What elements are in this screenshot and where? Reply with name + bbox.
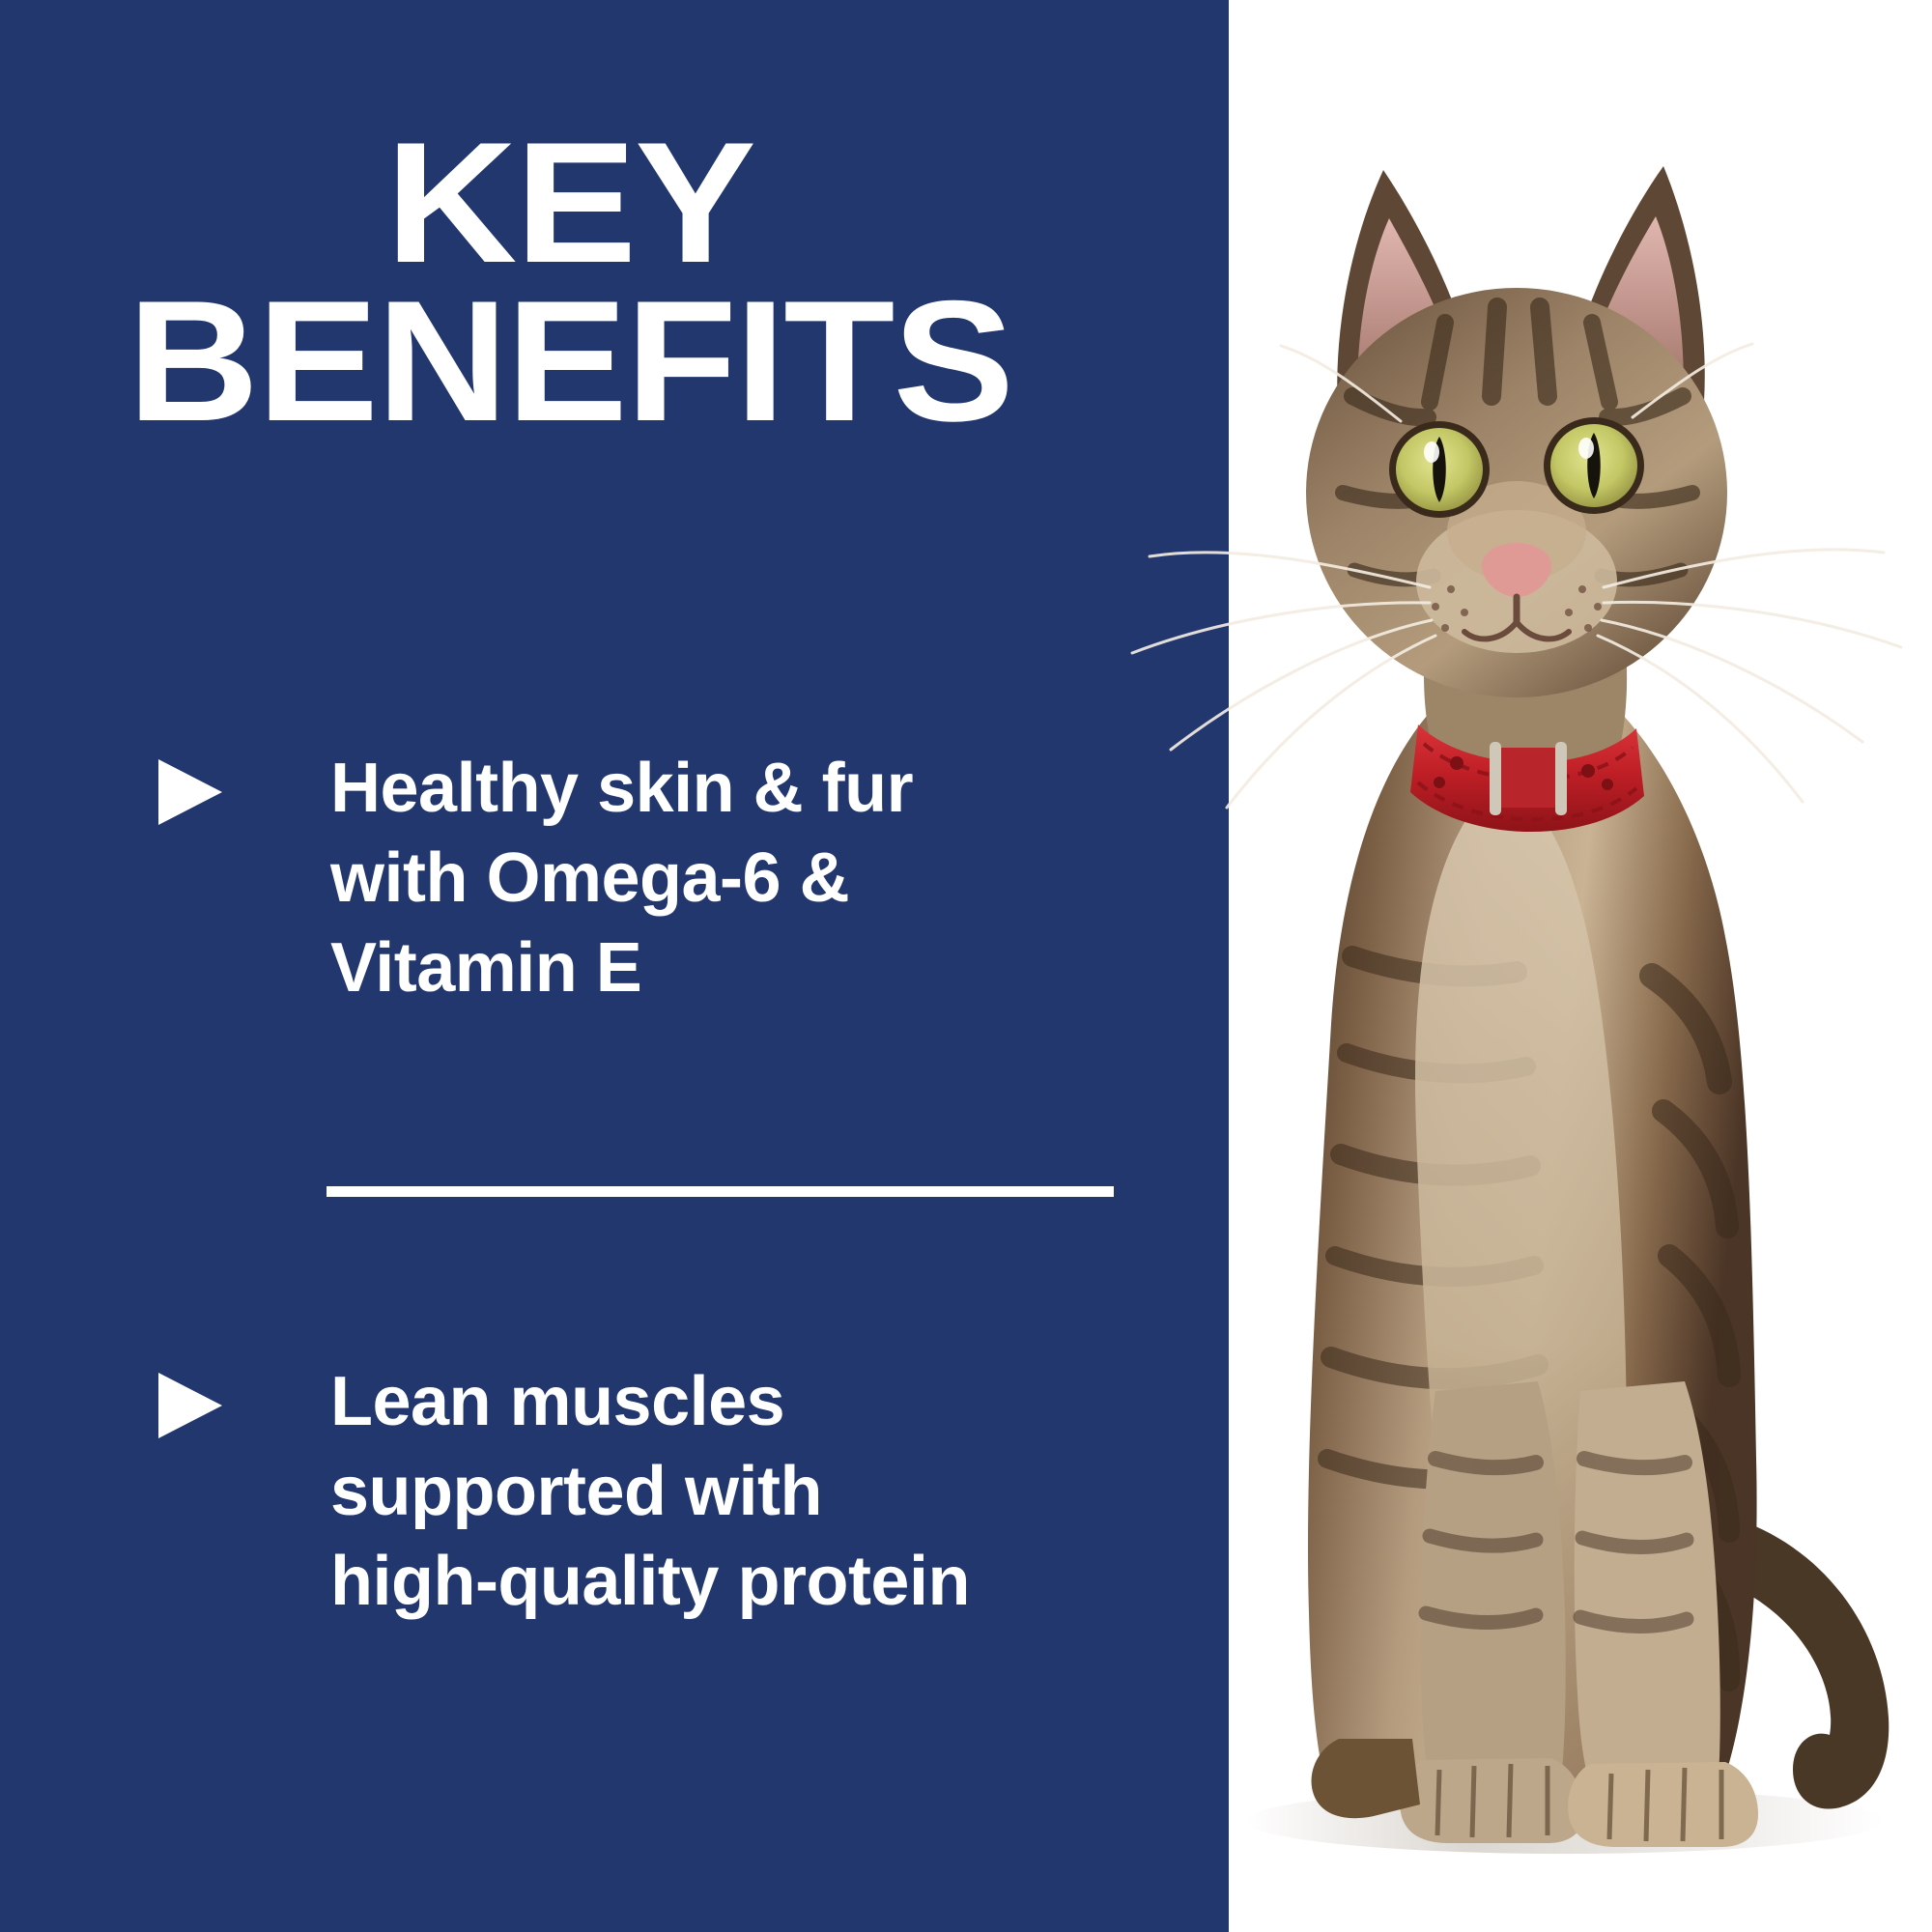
benefit-1-line-3: Vitamin E — [330, 923, 913, 1013]
benefit-1-line-1: Healthy skin & fur — [330, 744, 913, 834]
page-title-line-2: BENEFITS — [0, 282, 1174, 440]
benefits-divider — [327, 1186, 1114, 1197]
benefit-2-line-3: high-quality protein — [330, 1537, 970, 1627]
tabby-cat-photo — [1111, 106, 1932, 1932]
benefit-1-line-2: with Omega-6 & — [330, 834, 913, 923]
benefit-2-line-1: Lean muscles — [330, 1357, 970, 1447]
page-title: KEY BENEFITS — [0, 124, 1174, 440]
triangle-right-icon — [153, 755, 226, 829]
benefit-item-1: Healthy skin & fur with Omega-6 & Vitami… — [153, 744, 913, 1013]
benefit-item-1-label: Healthy skin & fur with Omega-6 & Vitami… — [330, 744, 913, 1013]
triangle-right-icon — [153, 1369, 226, 1442]
benefit-2-line-2: supported with — [330, 1447, 970, 1537]
key-benefits-poster: KEY BENEFITS Healthy skin & fur with Ome… — [0, 0, 1932, 1932]
page-title-line-1: KEY — [0, 124, 1174, 282]
benefit-item-2-label: Lean muscles supported with high-quality… — [330, 1357, 970, 1627]
benefit-item-2: Lean muscles supported with high-quality… — [153, 1357, 970, 1627]
